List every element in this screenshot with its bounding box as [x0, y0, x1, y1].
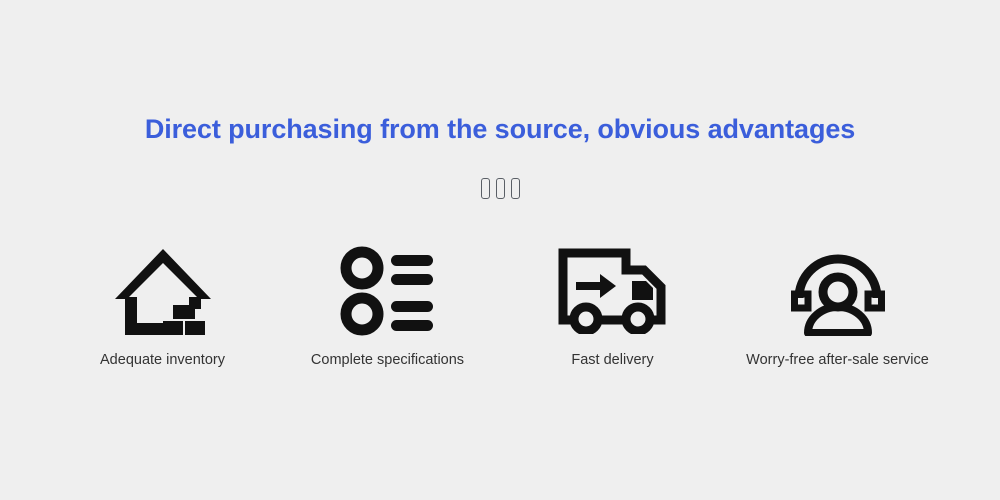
feature-item-delivery: Fast delivery [500, 243, 725, 370]
feature-label: Worry-free after-sale service [746, 350, 929, 370]
feature-list: Adequate inventory Complete specific [50, 243, 950, 370]
promo-banner: Direct purchasing from the source, obvio… [0, 0, 1000, 500]
list-specifications-icon [339, 243, 437, 339]
warehouse-house-icon [111, 243, 215, 339]
feature-item-support: Worry-free after-sale service [725, 243, 950, 370]
feature-item-inventory: Adequate inventory [50, 243, 275, 370]
divider-glyph-icon [496, 178, 505, 199]
headset-support-icon [789, 243, 887, 339]
feature-label: Fast delivery [571, 350, 653, 370]
feature-label: Adequate inventory [100, 350, 225, 370]
page-title: Direct purchasing from the source, obvio… [0, 112, 1000, 146]
headline-container: Direct purchasing from the source, obvio… [0, 112, 1000, 146]
divider-glyph-icon [511, 178, 520, 199]
feature-label: Complete specifications [311, 350, 464, 370]
decorative-divider [0, 178, 1000, 199]
delivery-truck-icon [558, 243, 668, 339]
feature-item-specifications: Complete specifications [275, 243, 500, 370]
divider-glyph-icon [481, 178, 490, 199]
